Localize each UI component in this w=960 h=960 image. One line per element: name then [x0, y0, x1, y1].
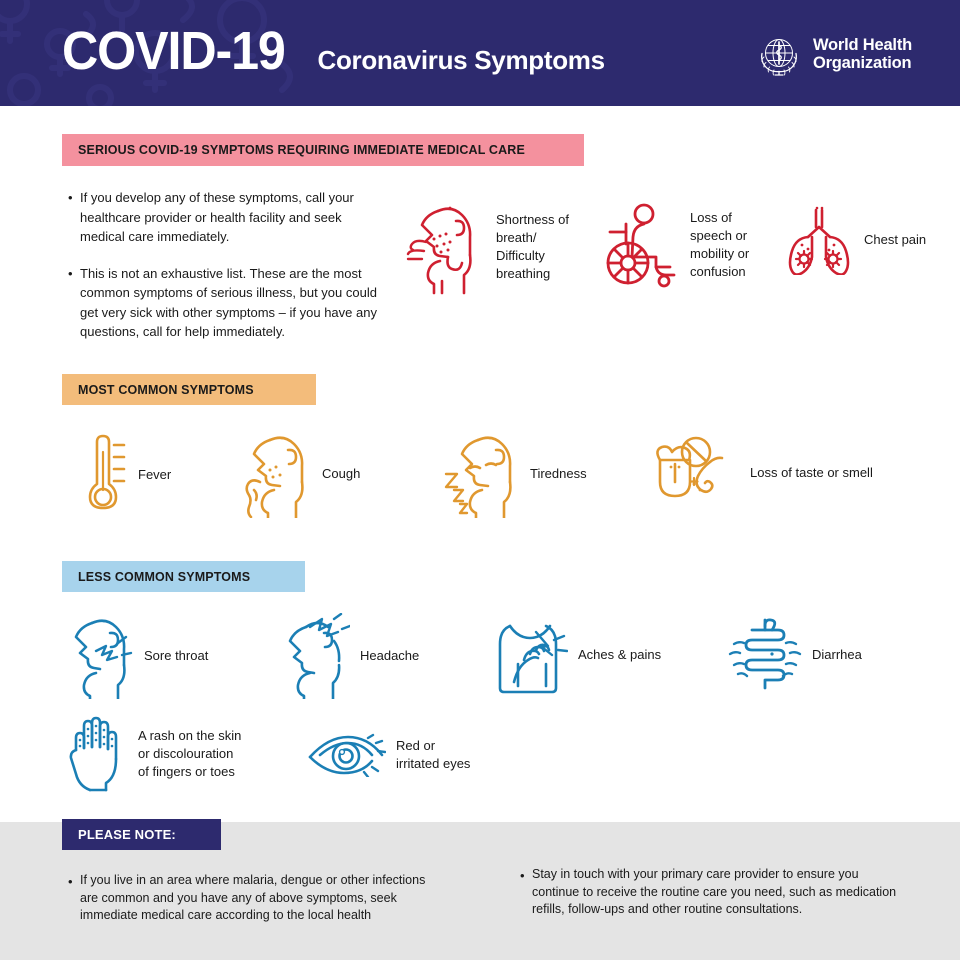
bullet-icon: •: [520, 866, 532, 886]
symptom-label: Headache: [360, 647, 419, 665]
who-line1: World Health: [813, 37, 912, 55]
symptom-label: Tiredness: [530, 465, 587, 483]
wheelchair-icon: [600, 199, 680, 291]
symptom-headache: Headache: [278, 613, 419, 699]
who-line2: Organization: [813, 55, 912, 73]
symptom-fever: Fever: [74, 432, 171, 518]
symptom-aches-pains: Aches & pains: [496, 616, 661, 694]
symptom-label: Loss of taste or smell: [750, 464, 873, 482]
symptom-label: Aches & pains: [578, 646, 661, 664]
bullet-icon: •: [68, 188, 80, 208]
symptom-label: Sore throat: [144, 647, 208, 665]
symptom-diarrhea: Diarrhea: [728, 616, 862, 694]
symptom-label: A rash on the skin or discolouration of …: [138, 727, 241, 781]
sore-throat-icon: [62, 613, 134, 699]
footer-note-right: • Stay in touch with your primary care p…: [520, 866, 900, 919]
infographic-poster: COVID-19 Coronavirus Symptoms: [0, 0, 960, 960]
symptom-label: Red or irritated eyes: [396, 737, 470, 773]
bullet-icon: •: [68, 872, 80, 892]
tiredness-icon: [444, 430, 520, 518]
title-subtitle: Coronavirus Symptoms: [317, 47, 604, 73]
intestine-icon: [728, 616, 802, 694]
symptom-label: Shortness of breath/ Difficulty breathin…: [496, 211, 569, 283]
page-title: COVID-19 Coronavirus Symptoms: [62, 24, 605, 78]
please-note-badge: PLEASE NOTE:: [62, 819, 221, 850]
taste-smell-icon: [648, 434, 740, 512]
aches-pains-icon: [496, 616, 568, 694]
symptom-cough: Cough: [240, 430, 360, 518]
thermometer-icon: [74, 432, 128, 518]
section-header-less-common: LESS COMMON SYMPTOMS: [62, 561, 305, 592]
footer-bullet-text: Stay in touch with your primary care pro…: [532, 866, 900, 919]
rash-hand-icon: [66, 716, 128, 792]
footer-note-left: • If you live in an area where malaria, …: [68, 872, 438, 925]
symptom-label: Diarrhea: [812, 646, 862, 664]
who-text: World Health Organization: [813, 37, 912, 73]
symptom-rash: A rash on the skin or discolouration of …: [66, 716, 241, 792]
symptom-label: Chest pain: [864, 231, 926, 249]
header-banner: COVID-19 Coronavirus Symptoms: [0, 0, 960, 106]
symptom-red-eyes: Red or irritated eyes: [306, 733, 470, 777]
lungs-icon: [784, 205, 854, 275]
symptom-chest-pain: Chest pain: [784, 205, 926, 275]
who-emblem-icon: [754, 30, 804, 80]
who-logo: World Health Organization: [754, 30, 912, 80]
symptom-label: Loss of speech or mobility or confusion: [690, 209, 749, 281]
bullet-icon: •: [68, 264, 80, 284]
symptom-tiredness: Tiredness: [444, 430, 587, 518]
eye-icon: [306, 733, 386, 777]
breathing-icon: [404, 199, 486, 295]
list-item: • If you develop any of these symptoms, …: [68, 188, 388, 247]
symptom-label: Fever: [138, 466, 171, 484]
symptom-shortness-of-breath: Shortness of breath/ Difficulty breathin…: [404, 199, 569, 295]
symptom-sore-throat: Sore throat: [62, 613, 208, 699]
footer-bullet-text: If you live in an area where malaria, de…: [80, 872, 438, 925]
title-covid: COVID-19: [62, 24, 285, 78]
cough-icon: [240, 430, 312, 518]
section-header-most-common: MOST COMMON SYMPTOMS: [62, 374, 316, 405]
bullet-text: This is not an exhaustive list. These ar…: [80, 264, 388, 342]
symptom-label: Cough: [322, 465, 360, 483]
section-header-serious: SERIOUS COVID-19 SYMPTOMS REQUIRING IMME…: [62, 134, 584, 166]
headache-icon: [278, 613, 350, 699]
symptom-loss-taste-smell: Loss of taste or smell: [648, 434, 873, 512]
list-item: • This is not an exhaustive list. These …: [68, 264, 388, 342]
serious-intro-text: • If you develop any of these symptoms, …: [68, 188, 388, 359]
symptom-loss-of-speech: Loss of speech or mobility or confusion: [600, 199, 749, 291]
bullet-text: If you develop any of these symptoms, ca…: [80, 188, 388, 247]
